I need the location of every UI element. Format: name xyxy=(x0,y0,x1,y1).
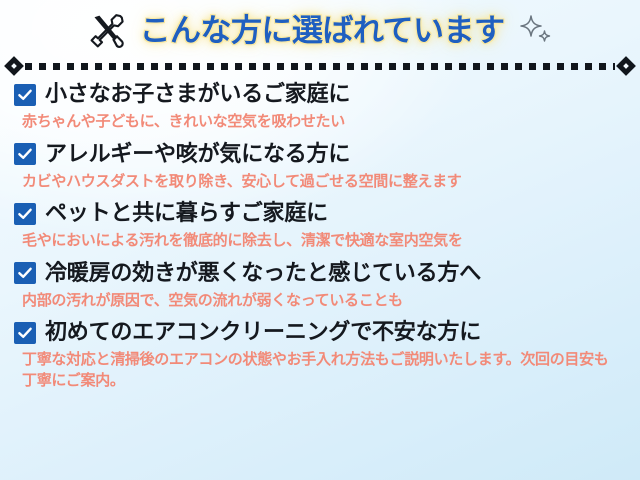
checkbox-checked-icon[interactable] xyxy=(14,322,36,344)
diamond-left-icon xyxy=(6,58,22,74)
list-item-heading: 初めてのエアコンクリーニングで不安な方に xyxy=(14,320,640,345)
dotted-divider xyxy=(6,58,634,74)
sparkle-icon xyxy=(519,14,553,48)
checkbox-checked-icon[interactable] xyxy=(14,262,36,284)
list-item-heading: 小さなお子さまがいるご家庭に xyxy=(14,82,640,107)
diamond-right-icon xyxy=(618,58,634,74)
list-item-subtitle: 丁寧な対応と清掃後のエアコンの状態やお手入れ方法もご説明いたします。次回の目安も… xyxy=(22,349,622,390)
list-item-heading: 冷暖房の効きが悪くなったと感じている方へ xyxy=(14,261,640,286)
list-item: 冷暖房の効きが悪くなったと感じている方へ 内部の汚れが原因で、空気の流れが弱くな… xyxy=(14,261,640,311)
header: こんな方に選ばれています xyxy=(0,0,640,58)
list-item-subtitle: カビやハウスダストを取り除き、安心して過ごせる空間に整えます xyxy=(22,171,622,191)
list-item: 小さなお子さまがいるご家庭に 赤ちゃんや子どもに、きれいな空気を吸わせたい xyxy=(14,82,640,132)
list-item-subtitle: 赤ちゃんや子どもに、きれいな空気を吸わせたい xyxy=(22,111,622,131)
checkbox-checked-icon[interactable] xyxy=(14,203,36,225)
list-item-heading: ペットと共に暮らすご家庭に xyxy=(14,201,640,226)
divider-dots xyxy=(25,63,615,70)
page-title: こんな方に選ばれています xyxy=(139,16,504,47)
list-item-subtitle: 毛やにおいによる汚れを徹底的に除去し、清潔で快適な室内空気を xyxy=(22,230,622,250)
list-item: 初めてのエアコンクリーニングで不安な方に 丁寧な対応と清掃後のエアコンの状態やお… xyxy=(14,320,640,390)
list-item-title: ペットと共に暮らすご家庭に xyxy=(45,201,328,226)
checkbox-checked-icon[interactable] xyxy=(14,143,36,165)
poster-root: こんな方に選ばれています 小さなお子さまがいるご家庭に 赤ちゃんや子ども xyxy=(0,0,640,480)
list-item-title: アレルギーや咳が気になる方に xyxy=(45,142,350,167)
list-item: ペットと共に暮らすご家庭に 毛やにおいによる汚れを徹底的に除去し、清潔で快適な室… xyxy=(14,201,640,251)
list-item-subtitle: 内部の汚れが原因で、空気の流れが弱くなっていることも xyxy=(22,290,622,310)
list-item-title: 小さなお子さまがいるご家庭に xyxy=(45,82,350,107)
list-item-heading: アレルギーや咳が気になる方に xyxy=(14,142,640,167)
list-item: アレルギーや咳が気になる方に カビやハウスダストを取り除き、安心して過ごせる空間… xyxy=(14,142,640,192)
benefits-list: 小さなお子さまがいるご家庭に 赤ちゃんや子どもに、きれいな空気を吸わせたい アレ… xyxy=(0,80,640,390)
checkbox-checked-icon[interactable] xyxy=(14,84,36,106)
tools-icon xyxy=(87,11,127,51)
list-item-title: 冷暖房の効きが悪くなったと感じている方へ xyxy=(45,261,481,286)
list-item-title: 初めてのエアコンクリーニングで不安な方に xyxy=(45,320,481,345)
